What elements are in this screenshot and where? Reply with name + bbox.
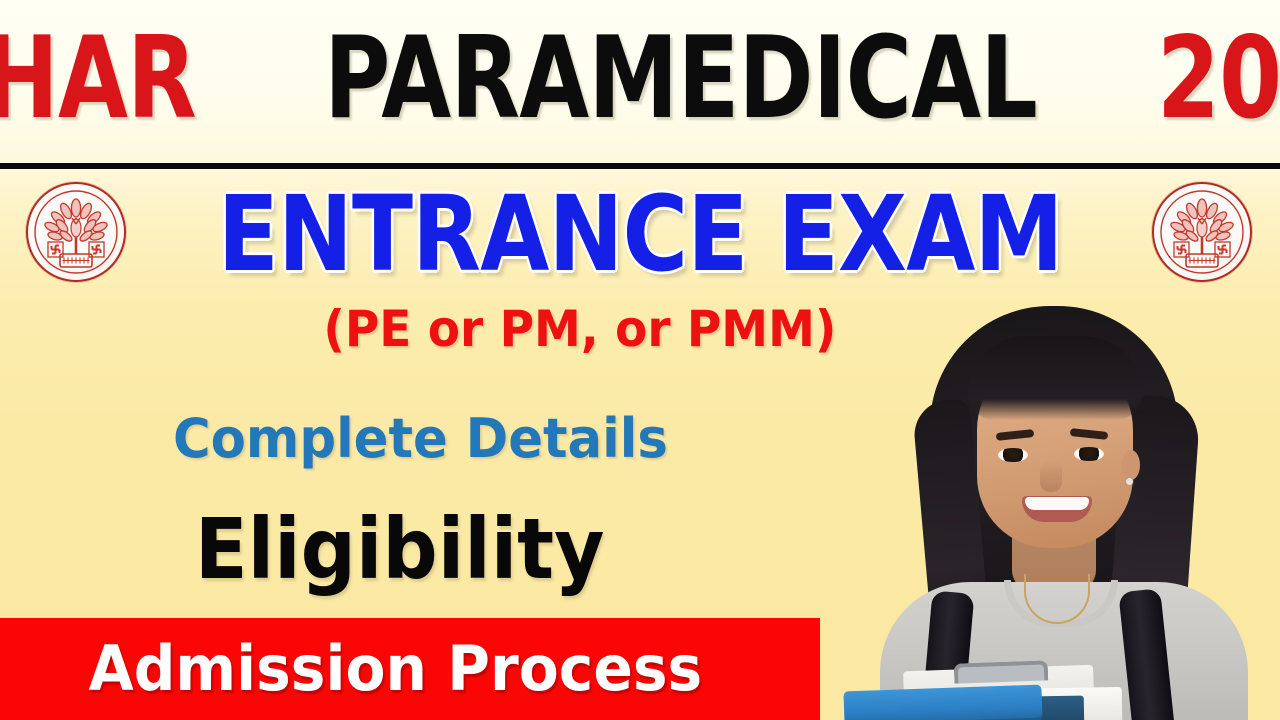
- earring-icon: [1126, 478, 1133, 485]
- eligibility-line: Eligibility: [0, 500, 800, 598]
- eye-right: [1074, 447, 1104, 461]
- blue-folder: [843, 685, 1042, 720]
- title-part-paramedical: PARAMEDICAL: [324, 22, 1037, 135]
- mouth: [1022, 496, 1092, 522]
- title-part-bihar: BIHAR: [0, 22, 196, 135]
- entrance-exam-heading: ENTRANCE EXAM: [0, 178, 1280, 290]
- entrance-exam-heading-text: ENTRANCE EXAM: [218, 182, 1063, 286]
- title-part-year: 2025: [1158, 22, 1280, 135]
- hair-fringe: [968, 336, 1142, 420]
- admission-process-text: Admission Process: [88, 638, 702, 700]
- title-divider-rule: [0, 163, 1280, 169]
- eligibility-text: Eligibility: [195, 507, 605, 591]
- student-photo: [826, 300, 1280, 720]
- admission-process-label: Admission Process: [0, 618, 790, 720]
- poster-title: BIHAR PARAMEDICAL 2025: [0, 14, 1280, 142]
- complete-details-text: Complete Details: [173, 412, 668, 466]
- teeth: [1025, 497, 1089, 510]
- exam-variants-subtitle-text: (PE or PM, or PMM): [324, 304, 837, 354]
- clipboard-clip: [954, 660, 1049, 683]
- admission-process-bar: Admission Process: [0, 618, 820, 720]
- complete-details-line: Complete Details: [0, 404, 840, 474]
- eye-left: [998, 448, 1028, 462]
- nose: [1040, 460, 1062, 492]
- ear-right: [1122, 450, 1140, 480]
- poster-canvas: BIHAR PARAMEDICAL 2025: [0, 0, 1280, 720]
